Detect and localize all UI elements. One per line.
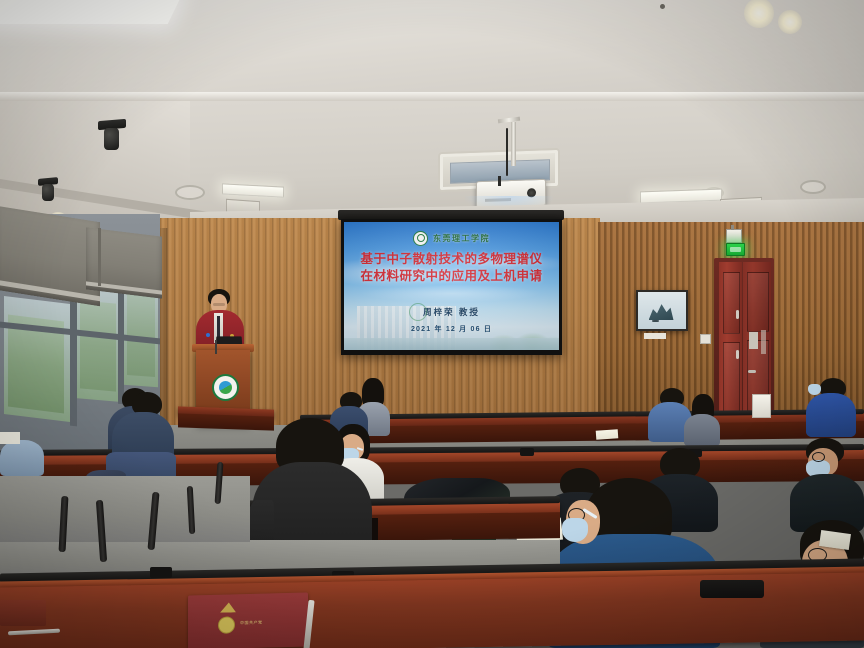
ceiling-speaker-icon — [104, 128, 119, 150]
floor-carpet — [0, 476, 250, 542]
ceiling-vent-icon — [800, 180, 826, 194]
sensor-stem — [731, 225, 734, 230]
notepad — [596, 429, 619, 440]
slide-title-line2: 在材料研究中的应用及上机申请 — [344, 268, 559, 285]
slide-university-name: 东莞理工学院 — [433, 233, 490, 244]
slide-ground — [344, 338, 559, 350]
slide-watermark-seal-icon — [409, 303, 427, 321]
landscape-painting — [636, 290, 688, 331]
face-mask — [562, 518, 588, 542]
slide-title: 基于中子散射技术的多物理谱仪 在材料研究中的应用及上机申请 — [344, 251, 559, 285]
projection-screen: 东莞理工学院 基于中子散射技术的多物理谱仪 在材料研究中的应用及上机申请 周梓荣… — [341, 219, 562, 355]
presenter-glasses-icon — [213, 303, 225, 306]
slide-presenter-name: 周梓荣 教授 — [344, 306, 559, 318]
slide-title-line1: 基于中子散射技术的多物理谱仪 — [344, 251, 559, 268]
tissue-box — [752, 394, 771, 418]
slide-logo-row: 东莞理工学院 — [344, 231, 559, 246]
lecture-hall-photo: 东莞理工学院 基于中子散射技术的多物理谱仪 在材料研究中的应用及上机申请 周梓荣… — [0, 0, 864, 648]
paper-sheet — [0, 432, 20, 444]
audience-torso — [0, 440, 44, 476]
exit-door-leaf-left[interactable] — [719, 262, 742, 428]
blind-cord[interactable] — [98, 228, 101, 286]
university-seal-icon — [413, 231, 428, 246]
painting-label-plaque — [644, 333, 666, 339]
microphone-stem — [215, 340, 217, 354]
audience-torso — [806, 393, 856, 437]
eyeglasses-icon — [812, 452, 825, 462]
wall-sensor-box — [726, 229, 742, 243]
audience-torso — [684, 414, 720, 446]
notebook-emblem-mark — [220, 602, 236, 612]
face-mask — [808, 384, 821, 395]
red-notebook[interactable]: 中国共产党 — [188, 592, 308, 648]
skylight-panel — [0, 0, 182, 24]
projector-cable — [506, 128, 508, 176]
desk-bracket — [150, 567, 172, 578]
chair-back — [700, 580, 764, 598]
painting-boat — [652, 320, 659, 322]
painting-mountain — [649, 302, 674, 320]
party-emblem-icon — [218, 616, 235, 633]
ceiling-sensor-icon — [660, 4, 665, 9]
window-foliage-view — [80, 300, 116, 391]
slide-date: 2021 年 12 月 06 日 — [344, 324, 559, 334]
desk-bracket — [520, 448, 534, 456]
presenter-badge-icon — [206, 333, 210, 337]
book-stack — [0, 600, 46, 626]
exit-sign — [726, 243, 745, 256]
ceiling-speaker-icon — [42, 184, 54, 201]
downlight-icon — [778, 10, 802, 34]
notebook-text: 中国共产党 — [240, 620, 263, 627]
light-switch[interactable] — [700, 334, 711, 344]
ceiling-vent-icon — [175, 185, 205, 200]
podium-emblem-icon — [212, 374, 239, 401]
projector-mount-rod — [511, 122, 516, 166]
slide-content: 东莞理工学院 基于中子散射技术的多物理谱仪 在材料研究中的应用及上机申请 周梓荣… — [344, 222, 559, 350]
projector-cable — [498, 176, 501, 186]
